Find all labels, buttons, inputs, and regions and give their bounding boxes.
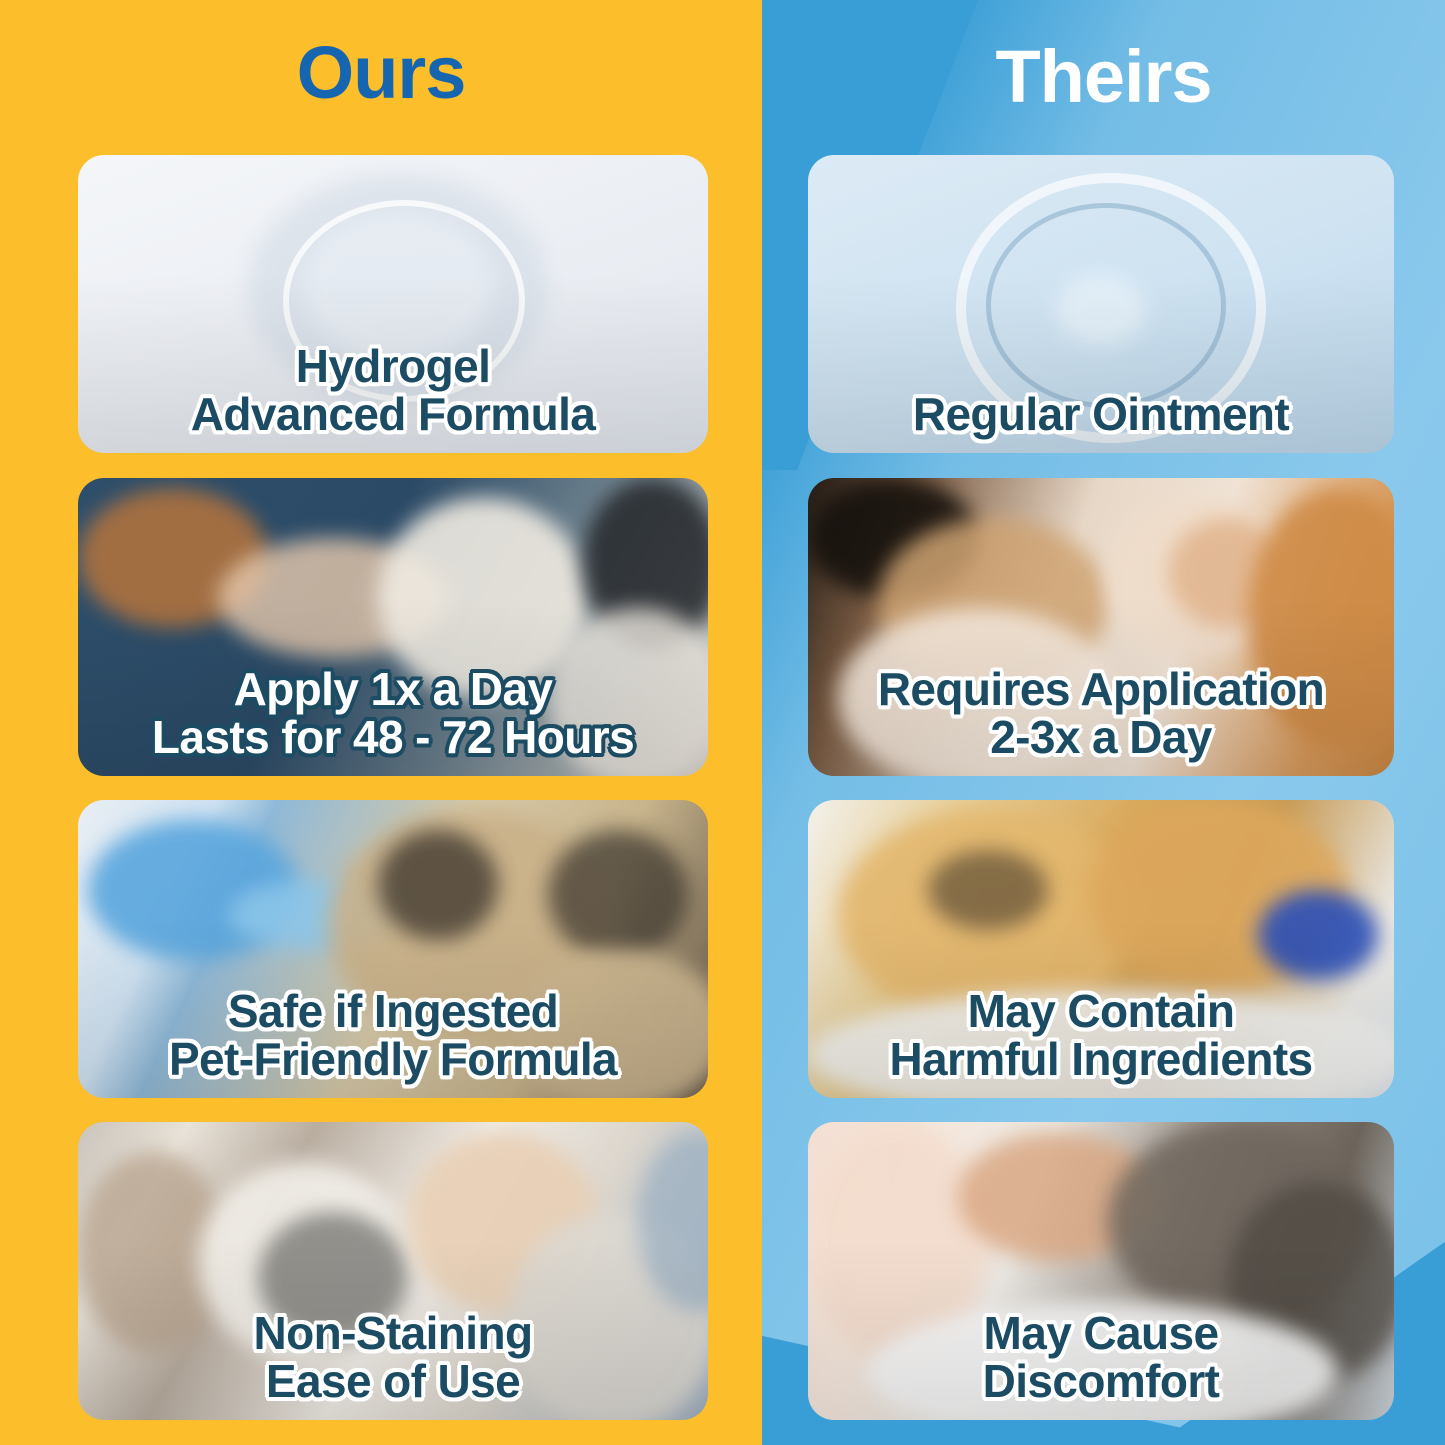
- caption-line-1: Non-Staining: [78, 1309, 708, 1358]
- theirs-card-may-cause-discomfort-caption: May Cause Discomfort: [808, 1309, 1394, 1421]
- caption-line-1: May Cause: [808, 1309, 1394, 1358]
- caption-line-1: Regular Ointment: [808, 390, 1394, 439]
- comparison-infographic: Ours Theirs Hydrogel Advanced Formula Ap…: [0, 0, 1445, 1445]
- caption-line-2: Harmful Ingredients: [808, 1035, 1394, 1084]
- theirs-card-may-cause-discomfort: May Cause Discomfort: [808, 1122, 1394, 1420]
- theirs-card-harmful-ingredients: May Contain Harmful Ingredients: [808, 800, 1394, 1098]
- ours-card-non-staining: Non-Staining Ease of Use: [78, 1122, 708, 1420]
- ours-card-hydrogel-caption: Hydrogel Advanced Formula: [78, 342, 708, 454]
- theirs-card-harmful-ingredients-caption: May Contain Harmful Ingredients: [808, 987, 1394, 1099]
- theirs-heading: Theirs: [762, 40, 1445, 114]
- ours-card-apply-once: Apply 1x a Day Lasts for 48 - 72 Hours: [78, 478, 708, 776]
- caption-line-2: Ease of Use: [78, 1357, 708, 1406]
- theirs-card-regular-ointment-caption: Regular Ointment: [808, 390, 1394, 453]
- caption-line-2: Pet-Friendly Formula: [78, 1035, 708, 1084]
- caption-line-2: Discomfort: [808, 1357, 1394, 1406]
- theirs-card-requires-application: Requires Application 2-3x a Day: [808, 478, 1394, 776]
- caption-line-1: Hydrogel: [78, 342, 708, 391]
- caption-line-1: Apply 1x a Day: [78, 665, 708, 714]
- ours-card-non-staining-caption: Non-Staining Ease of Use: [78, 1309, 708, 1421]
- caption-line-2: Lasts for 48 - 72 Hours: [78, 713, 708, 762]
- caption-line-2: 2-3x a Day: [808, 713, 1394, 762]
- ours-card-safe-ingested: Safe if Ingested Pet-Friendly Formula: [78, 800, 708, 1098]
- ours-card-apply-once-caption: Apply 1x a Day Lasts for 48 - 72 Hours: [78, 665, 708, 777]
- ours-card-safe-ingested-caption: Safe if Ingested Pet-Friendly Formula: [78, 987, 708, 1099]
- ours-heading: Ours: [0, 36, 762, 110]
- theirs-card-regular-ointment: Regular Ointment: [808, 155, 1394, 453]
- caption-line-2: Advanced Formula: [78, 390, 708, 439]
- caption-line-1: May Contain: [808, 987, 1394, 1036]
- caption-line-1: Requires Application: [808, 665, 1394, 714]
- theirs-card-requires-application-caption: Requires Application 2-3x a Day: [808, 665, 1394, 777]
- ours-card-hydrogel: Hydrogel Advanced Formula: [78, 155, 708, 453]
- caption-line-1: Safe if Ingested: [78, 987, 708, 1036]
